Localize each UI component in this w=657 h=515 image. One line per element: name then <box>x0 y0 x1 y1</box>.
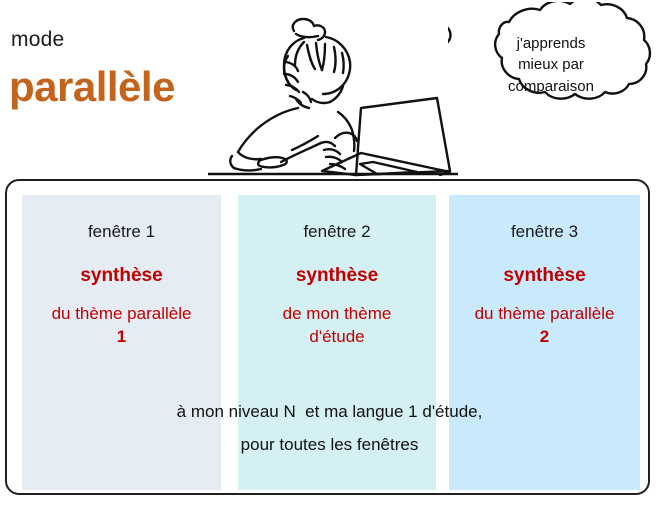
window-3-synthese: synthèse <box>449 266 640 285</box>
mode-label: mode <box>11 29 64 50</box>
window-3-desc-line-1: du thème parallèle <box>475 304 615 323</box>
window-2-synthese: synthèse <box>238 266 436 285</box>
window-1-desc-line-2: 1 <box>117 327 126 346</box>
window-2-desc-line-2: d'étude <box>309 327 364 346</box>
window-1-synthese: synthèse <box>22 266 221 285</box>
thought-bubble-line-1: j'apprends <box>481 33 621 54</box>
frame-caption-line-1: à mon niveau N et ma langue 1 d'étude, <box>7 395 652 428</box>
thought-bubble-line-2: mieux par <box>481 54 621 75</box>
window-2-desc-line-1: de mon thème <box>283 304 392 323</box>
header-illustration-area: mode parallèle <box>0 0 657 179</box>
window-2-title: fenêtre 2 <box>238 223 436 240</box>
window-3-title: fenêtre 3 <box>449 223 640 240</box>
frame-caption-line-2: pour toutes les fenêtres <box>7 428 652 461</box>
window-1-title: fenêtre 1 <box>22 223 221 240</box>
thought-bubble-text: j'apprends mieux par comparaison <box>481 33 621 97</box>
window-2-description: de mon thème d'étude <box>238 303 436 349</box>
page-title: parallèle <box>9 66 175 108</box>
frame-caption: à mon niveau N et ma langue 1 d'étude, p… <box>7 395 652 461</box>
window-1-desc-line-1: du thème parallèle <box>52 304 192 323</box>
thought-bubble-line-3: comparaison <box>481 76 621 97</box>
window-3-desc-line-2: 2 <box>540 327 549 346</box>
person-studying-at-laptop-icon <box>208 4 458 179</box>
window-1-description: du thème parallèle 1 <box>22 303 221 349</box>
windows-frame: fenêtre 1 synthèse du thème parallèle 1 … <box>5 179 650 495</box>
window-3-description: du thème parallèle 2 <box>449 303 640 349</box>
